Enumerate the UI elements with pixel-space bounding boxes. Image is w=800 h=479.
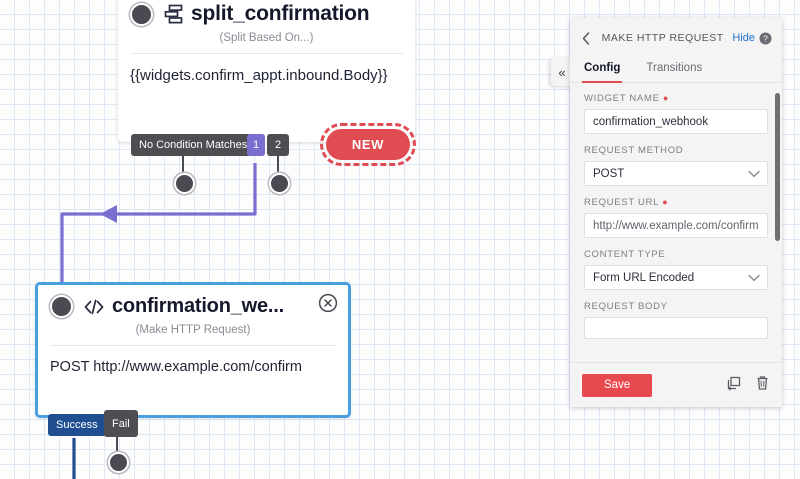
tab-config[interactable]: Config: [582, 58, 622, 83]
output-condition-2[interactable]: 2: [267, 134, 289, 156]
output-no-condition-matches[interactable]: No Condition Matches: [131, 134, 255, 156]
node-subtitle: (Split Based On...): [118, 28, 415, 53]
code-icon: [83, 298, 105, 316]
split-icon: [163, 4, 184, 24]
help-circle-icon[interactable]: ?: [759, 32, 772, 45]
output-success[interactable]: Success: [48, 414, 106, 436]
panel-scrollbar[interactable]: [775, 93, 780, 241]
close-circle-icon[interactable]: [318, 293, 338, 313]
trash-icon[interactable]: [755, 375, 770, 396]
label-request-url: REQUEST URL ●: [584, 197, 768, 208]
output-handle-no-condition[interactable]: [174, 173, 195, 194]
request-url-input[interactable]: http://www.example.com/confirm: [584, 213, 768, 238]
panel-tabs: Config Transitions: [570, 58, 782, 83]
node-input-handle[interactable]: [130, 3, 153, 26]
output-condition-1[interactable]: 1: [247, 134, 265, 156]
hide-panel-button[interactable]: Hide: [732, 32, 755, 44]
panel-footer: Save: [570, 362, 782, 407]
node-input-handle[interactable]: [50, 295, 73, 318]
panel-header: MAKE HTTP REQUEST Hide ?: [570, 18, 782, 58]
node-title: split_confirmation: [191, 2, 369, 26]
add-condition-button[interactable]: NEW: [326, 129, 410, 160]
node-split-confirmation[interactable]: split_confirmation (Split Based On...) {…: [118, 0, 415, 142]
output-fail[interactable]: Fail: [104, 410, 138, 437]
node-subtitle: (Make HTTP Request): [38, 320, 348, 345]
request-body-input[interactable]: [584, 317, 768, 339]
chevron-down-icon: [748, 170, 760, 178]
widget-name-input[interactable]: confirmation_webhook: [584, 109, 768, 134]
output-handle-condition-2[interactable]: [269, 173, 290, 194]
config-panel: MAKE HTTP REQUEST Hide ? Config Transiti…: [570, 18, 782, 407]
content-type-select[interactable]: Form URL Encoded: [584, 265, 768, 290]
flow-builder-app: split_confirmation (Split Based On...) {…: [0, 0, 800, 479]
label-request-body: REQUEST BODY: [584, 301, 768, 312]
label-content-type: CONTENT TYPE: [584, 249, 768, 260]
duplicate-icon[interactable]: [726, 375, 742, 396]
label-request-method: REQUEST METHOD: [584, 145, 768, 156]
node-header: split_confirmation: [118, 0, 415, 28]
panel-form: WIDGET NAME ● confirmation_webhook REQUE…: [570, 83, 782, 362]
request-method-select[interactable]: POST: [584, 161, 768, 186]
node-title: confirmation_we...: [112, 295, 284, 318]
required-marker: ●: [659, 197, 668, 207]
tab-transitions[interactable]: Transitions: [644, 58, 704, 83]
node-summary: POST http://www.example.com/confirm: [38, 346, 348, 389]
chevron-down-icon: [748, 274, 760, 282]
required-marker: ●: [660, 93, 669, 103]
footer-actions: [726, 375, 770, 396]
chevron-left-icon[interactable]: [580, 31, 593, 46]
output-handle-fail[interactable]: [108, 452, 129, 473]
node-expression: {{widgets.confirm_appt.inbound.Body}}: [118, 54, 415, 98]
panel-title: MAKE HTTP REQUEST: [593, 32, 732, 44]
label-widget-name: WIDGET NAME ●: [584, 93, 768, 104]
svg-text:?: ?: [763, 33, 768, 43]
save-button[interactable]: Save: [582, 374, 652, 397]
node-header: confirmation_we...: [38, 285, 348, 320]
node-confirmation-webhook[interactable]: confirmation_we... (Make HTTP Request) P…: [35, 282, 351, 418]
